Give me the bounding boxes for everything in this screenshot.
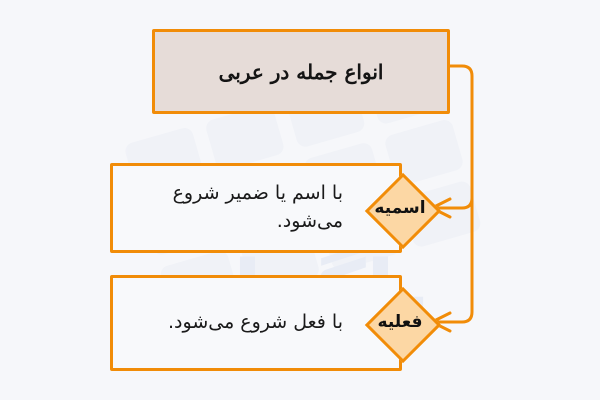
node-root-label: انواع جمله در عربی bbox=[219, 60, 384, 84]
node-esmiyeh-description: با اسم یا ضمیر شروع می‌شود. bbox=[113, 180, 343, 235]
node-feliyeh-description-box[interactable]: با فعل شروع می‌شود. bbox=[110, 275, 402, 371]
node-root[interactable]: انواع جمله در عربی bbox=[152, 29, 450, 114]
node-feliyeh-description: با فعل شروع می‌شود. bbox=[113, 309, 343, 337]
flowchart-canvas: باگرام انواع جمله در عربی با اسم یا ضمیر… bbox=[0, 0, 600, 400]
node-esmiyeh-description-box[interactable]: با اسم یا ضمیر شروع می‌شود. bbox=[110, 163, 402, 253]
